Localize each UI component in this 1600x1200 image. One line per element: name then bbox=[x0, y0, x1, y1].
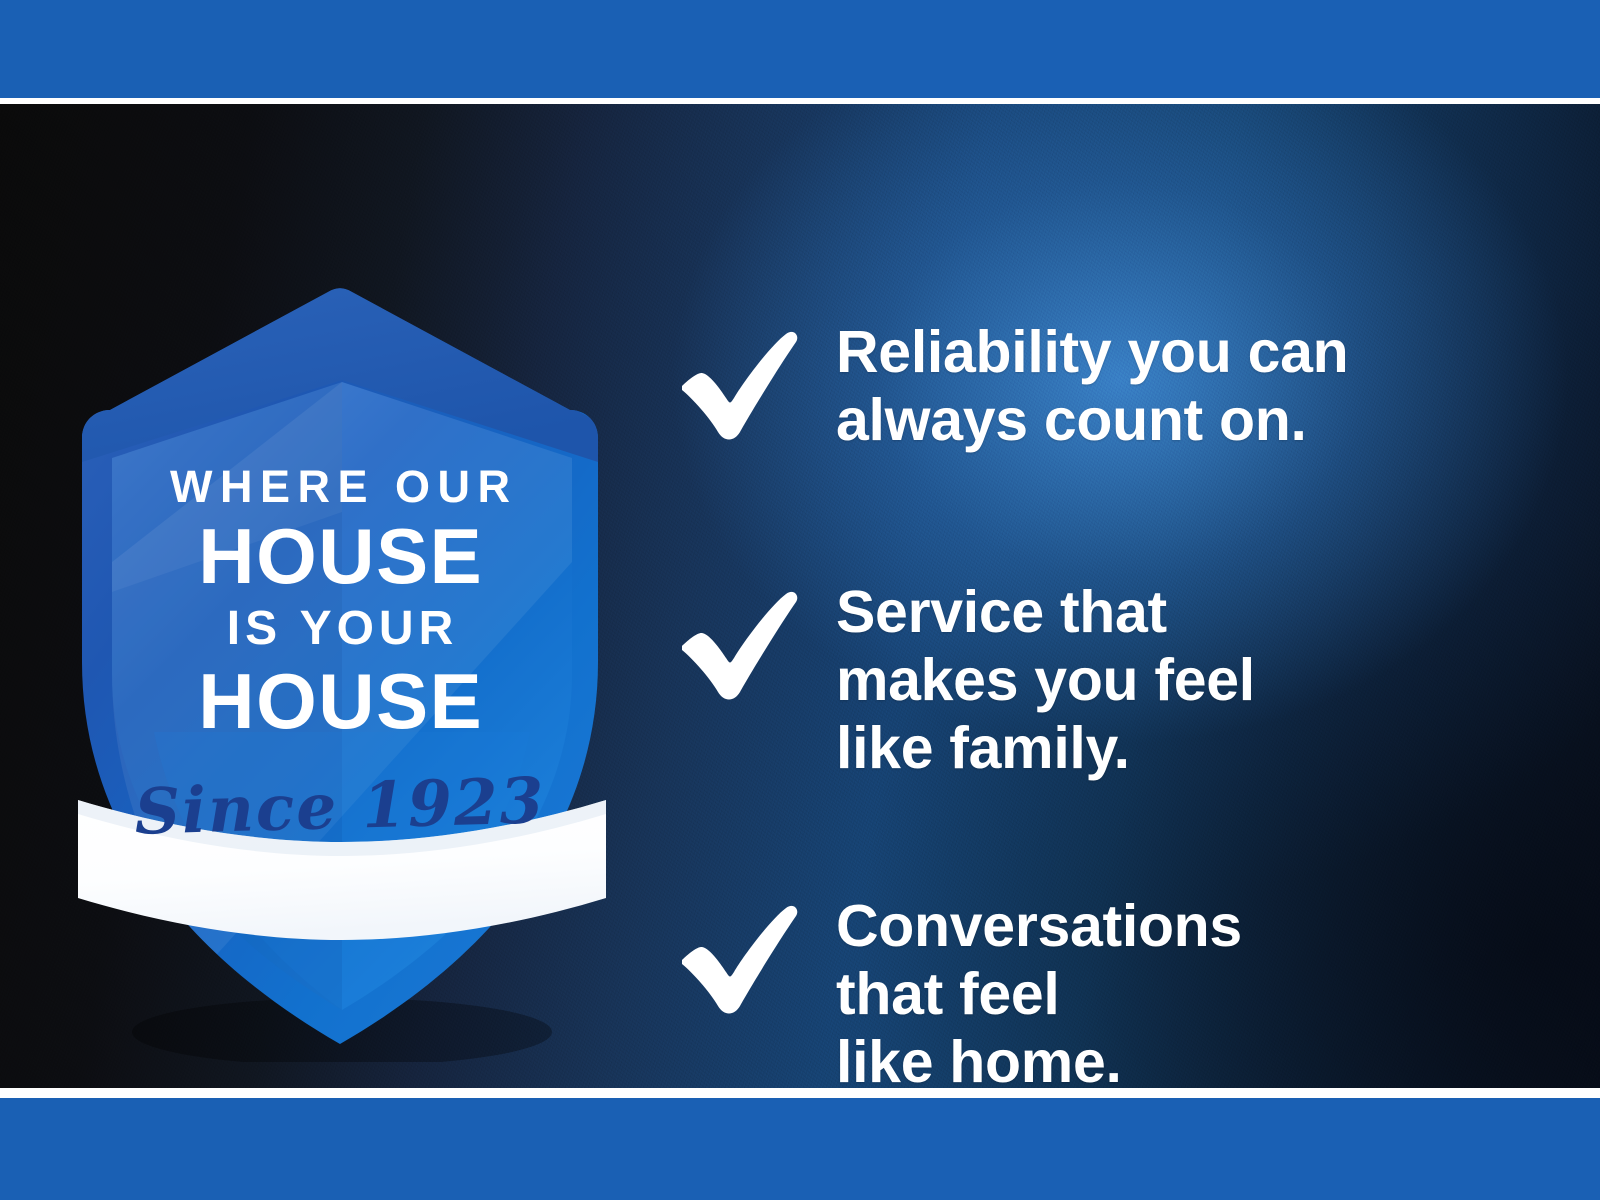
shield-logo: WHERE OUR HOUSE IS YOUR HOUSE Since 1923 bbox=[60, 262, 620, 1062]
promo-banner: WHERE OUR HOUSE IS YOUR HOUSE Since 1923… bbox=[0, 0, 1600, 1200]
list-item-text: Service that makes you feel like family. bbox=[836, 578, 1255, 782]
checkmark-icon bbox=[672, 588, 804, 706]
checkmark-icon bbox=[672, 902, 804, 1020]
list-item: Conversations that feel like home. bbox=[672, 892, 1242, 1088]
shield-graphic bbox=[60, 262, 620, 1062]
list-item: Reliability you can always count on. bbox=[672, 318, 1348, 454]
top-brand-bar bbox=[0, 0, 1600, 98]
list-item-text: Conversations that feel like home. bbox=[836, 892, 1242, 1088]
list-item: Service that makes you feel like family. bbox=[672, 578, 1255, 782]
bottom-brand-bar bbox=[0, 1098, 1600, 1200]
main-panel: WHERE OUR HOUSE IS YOUR HOUSE Since 1923… bbox=[0, 104, 1600, 1088]
list-item-text: Reliability you can always count on. bbox=[836, 318, 1348, 454]
checkmark-icon bbox=[672, 328, 804, 446]
